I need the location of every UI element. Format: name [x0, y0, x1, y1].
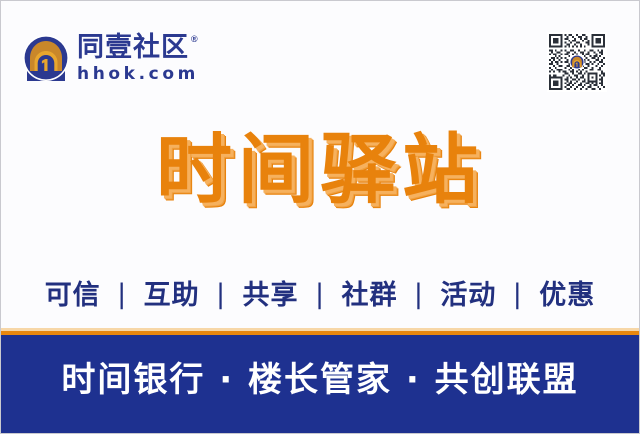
poster-canvas: 同壹社区 ® hhok.com	[0, 0, 640, 434]
tagline-item-2: 共享	[243, 280, 299, 311]
poster-tagline: 可信 | 互助 | 共享 | 社群 | 活动 | 优惠	[1, 280, 639, 311]
qr-center-logo-icon	[570, 55, 585, 70]
poster-headline: 时间驿站	[1, 132, 639, 208]
tagline-separator: |	[210, 279, 232, 310]
tagline-item-1: 互助	[144, 280, 200, 311]
tagline-separator: |	[408, 279, 430, 310]
brand-wordmark: 同壹社区 ® hhok.com	[77, 34, 199, 83]
brand-name-cn: 同壹社区	[77, 34, 189, 62]
brand-name-row: 同壹社区 ®	[77, 34, 199, 62]
brand-url: hhok.com	[77, 66, 199, 83]
tagline-separator: |	[507, 279, 529, 310]
qr-code[interactable]	[547, 32, 607, 92]
brand-logo: 同壹社区 ® hhok.com	[23, 34, 199, 83]
tagline-item-3: 社群	[341, 280, 397, 311]
tagline-item-0: 可信	[45, 280, 101, 311]
bottom-banner: 时间银行 · 楼长管家 · 共创联盟	[1, 335, 639, 433]
tagline-item-4: 活动	[440, 280, 496, 311]
tagline-separator: |	[111, 279, 133, 310]
hhok-circle-logo-icon	[23, 35, 69, 81]
banner-text: 时间银行 · 楼长管家 · 共创联盟	[1, 361, 639, 400]
registered-trademark-icon: ®	[191, 35, 198, 44]
banner-rule-orange	[1, 331, 639, 335]
tagline-separator: |	[309, 279, 331, 310]
tagline-item-5: 优惠	[539, 280, 595, 311]
